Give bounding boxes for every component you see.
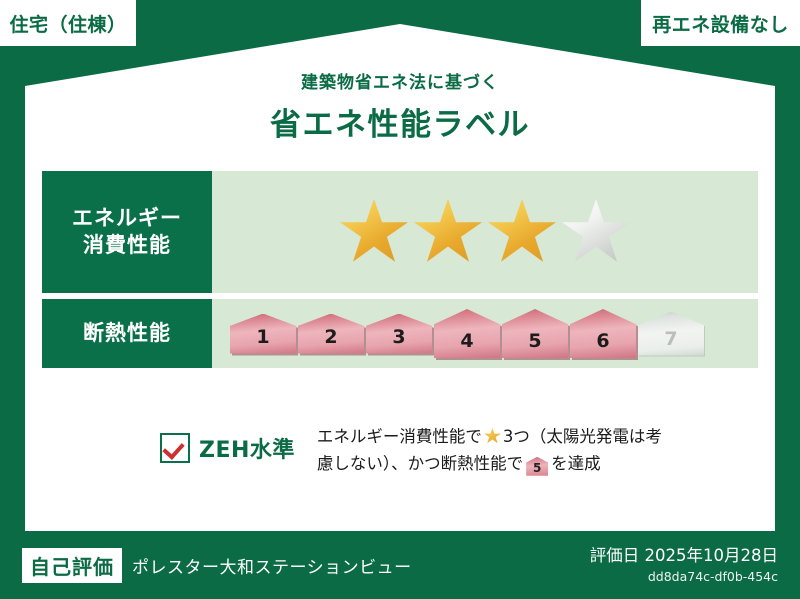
footer-right: 評価日 2025年10月28日 dd8da74c-df0b-454c bbox=[590, 546, 778, 584]
energy-label-line2: 消費性能 bbox=[83, 232, 171, 259]
insulation-performance-row: 断熱性能 1234567 bbox=[42, 299, 758, 368]
zeh-label: ZEH水準 bbox=[199, 432, 295, 464]
zeh-desc-part1: エネルギー消費性能で bbox=[317, 427, 482, 446]
insulation-grade-6: 6 bbox=[570, 309, 636, 358]
zeh-description: エネルギー消費性能で3つ（太陽光発電は考慮しない）、かつ断熱性能で5を達成 bbox=[317, 424, 677, 477]
energy-performance-label-box: エネルギー 消費性能 bbox=[42, 171, 212, 293]
insulation-grade-5: 5 bbox=[502, 309, 568, 358]
insulation-grade-value: 4 bbox=[460, 330, 473, 358]
star-icon bbox=[484, 428, 501, 444]
zeh-desc-star-count: 3つ（太陽光発電 bbox=[503, 427, 629, 446]
insulation-grade-value: 7 bbox=[664, 328, 677, 356]
insulation-grade-value: 2 bbox=[324, 326, 337, 354]
energy-performance-label: 住宅（住棟） 再エネ設備なし 建築物省エネ法に基づく 省エネ性能ラベル エネルギ… bbox=[0, 0, 800, 599]
title-subtitle: 建築物省エネ法に基づく bbox=[0, 68, 800, 93]
insulation-grade-value: 1 bbox=[256, 326, 269, 354]
insulation-performance-label-box: 断熱性能 bbox=[42, 299, 212, 368]
insulation-grade-2: 2 bbox=[298, 314, 364, 354]
footer: 自己評価 ポレスター大和ステーションビュー 評価日 2025年10月28日 dd… bbox=[0, 531, 800, 599]
tag-building-type: 住宅（住棟） bbox=[0, 0, 136, 46]
house-grade-value: 5 bbox=[533, 462, 541, 476]
title-block: 建築物省エネ法に基づく 省エネ性能ラベル bbox=[0, 68, 800, 144]
star-icon-2 bbox=[414, 199, 482, 265]
page-title: 省エネ性能ラベル bbox=[0, 99, 800, 144]
insulation-grade-value: 5 bbox=[528, 330, 541, 358]
zeh-desc-part3: を達成 bbox=[551, 454, 601, 473]
star-icon-1 bbox=[340, 199, 408, 265]
building-name: ポレスター大和ステーションビュー bbox=[132, 553, 412, 578]
footer-left: 自己評価 ポレスター大和ステーションビュー bbox=[22, 548, 412, 583]
check-icon bbox=[160, 433, 190, 463]
evaluation-date: 評価日 2025年10月28日 bbox=[590, 546, 778, 567]
insulation-grade-3: 3 bbox=[366, 314, 432, 354]
insulation-grade-value: 3 bbox=[392, 326, 405, 354]
energy-label-line1: エネルギー bbox=[72, 205, 182, 232]
insulation-grade-4: 4 bbox=[434, 309, 500, 358]
evaluation-id: dd8da74c-df0b-454c bbox=[590, 569, 778, 585]
zeh-badge: ZEH水準 bbox=[160, 424, 295, 464]
energy-star-rating bbox=[212, 171, 758, 293]
evaluation-type-badge: 自己評価 bbox=[22, 548, 122, 583]
house-grade-icon: 5 bbox=[526, 457, 548, 476]
tag-renewable-energy: 再エネ設備なし bbox=[641, 0, 800, 46]
star-icon-3 bbox=[488, 199, 556, 265]
insulation-grade-scale: 1234567 bbox=[212, 299, 758, 368]
energy-performance-row: エネルギー 消費性能 bbox=[42, 171, 758, 293]
insulation-grade-7: 7 bbox=[638, 312, 704, 356]
insulation-label: 断熱性能 bbox=[83, 320, 171, 347]
star-icon-4 bbox=[562, 199, 630, 265]
zeh-section: ZEH水準 エネルギー消費性能で3つ（太陽光発電は考慮しない）、かつ断熱性能で5… bbox=[160, 424, 760, 477]
insulation-grade-value: 6 bbox=[596, 330, 609, 358]
insulation-grade-1: 1 bbox=[230, 314, 296, 354]
